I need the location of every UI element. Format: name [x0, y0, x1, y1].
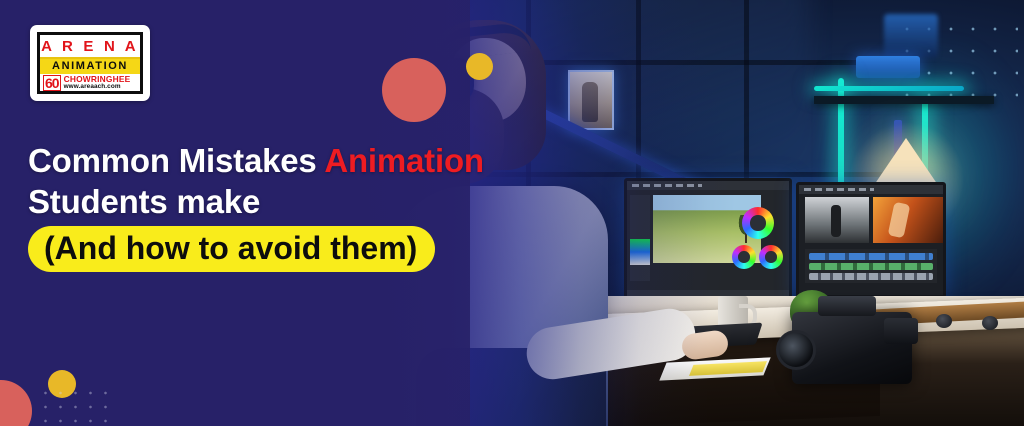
headline-block: Common Mistakes Animation Students make …	[28, 140, 573, 272]
headline-line-1: Common Mistakes Animation	[28, 140, 573, 181]
shelf-box	[856, 56, 920, 78]
framed-wall-art	[568, 70, 614, 130]
logo-brand-top: A R E N A	[40, 35, 140, 59]
program-preview	[873, 197, 943, 243]
edit-timeline	[805, 249, 937, 283]
color-wheel	[732, 245, 756, 269]
color-grading-monitor	[624, 178, 792, 302]
logo-brand-sub: ANIMATION	[40, 59, 140, 74]
blog-banner: A R E N A ANIMATION 60 CHOWRINGHEE www.a…	[0, 0, 1024, 426]
logo-years-badge: 60	[43, 75, 61, 91]
app-menu-bar	[627, 181, 789, 190]
timeline-track	[809, 253, 933, 260]
camera-top-handle	[818, 296, 876, 316]
cinema-camera	[792, 312, 912, 384]
arena-animation-logo[interactable]: A R E N A ANIMATION 60 CHOWRINGHEE www.a…	[30, 25, 150, 101]
headline-line-3-wrap: (And how to avoid them)	[28, 222, 573, 272]
red-circle-top	[382, 58, 446, 122]
timeline-track	[809, 263, 933, 270]
logo-centre-info: CHOWRINGHEE www.areaach.com	[64, 75, 131, 91]
color-wheel	[759, 245, 783, 269]
timeline-track	[809, 273, 933, 280]
tool-panel	[630, 195, 650, 281]
rail-knob	[982, 316, 998, 330]
color-wheel-group	[732, 207, 784, 279]
source-preview	[805, 197, 869, 243]
dot-grid-pattern	[38, 386, 112, 426]
shelf-bottles	[884, 14, 938, 58]
yellow-circle-top	[466, 53, 493, 80]
wall-shelf	[814, 96, 994, 104]
teal-led-strip	[814, 86, 964, 91]
logo-inner-box: A R E N A ANIMATION 60 CHOWRINGHEE www.a…	[37, 32, 143, 94]
headline-line-1-plain: Common Mistakes	[28, 142, 324, 179]
logo-brand-sub-text: ANIMATION	[52, 61, 128, 72]
logo-website: www.areaach.com	[64, 84, 131, 91]
logo-centre-row: 60 CHOWRINGHEE www.areaach.com	[40, 74, 140, 91]
app-menu-bar	[799, 185, 943, 194]
logo-brand-text: A R E N A	[41, 39, 139, 54]
headline-line-1-accent: Animation	[324, 142, 484, 179]
headline-line-2: Students make	[28, 181, 573, 222]
camera-viewfinder	[884, 318, 918, 344]
headline-pill: (And how to avoid them)	[28, 226, 435, 272]
camera-lens	[776, 330, 816, 370]
video-timeline-monitor	[796, 182, 946, 298]
rail-knob	[936, 314, 952, 328]
color-wheel	[742, 207, 774, 239]
color-swatch-strip	[630, 239, 650, 265]
